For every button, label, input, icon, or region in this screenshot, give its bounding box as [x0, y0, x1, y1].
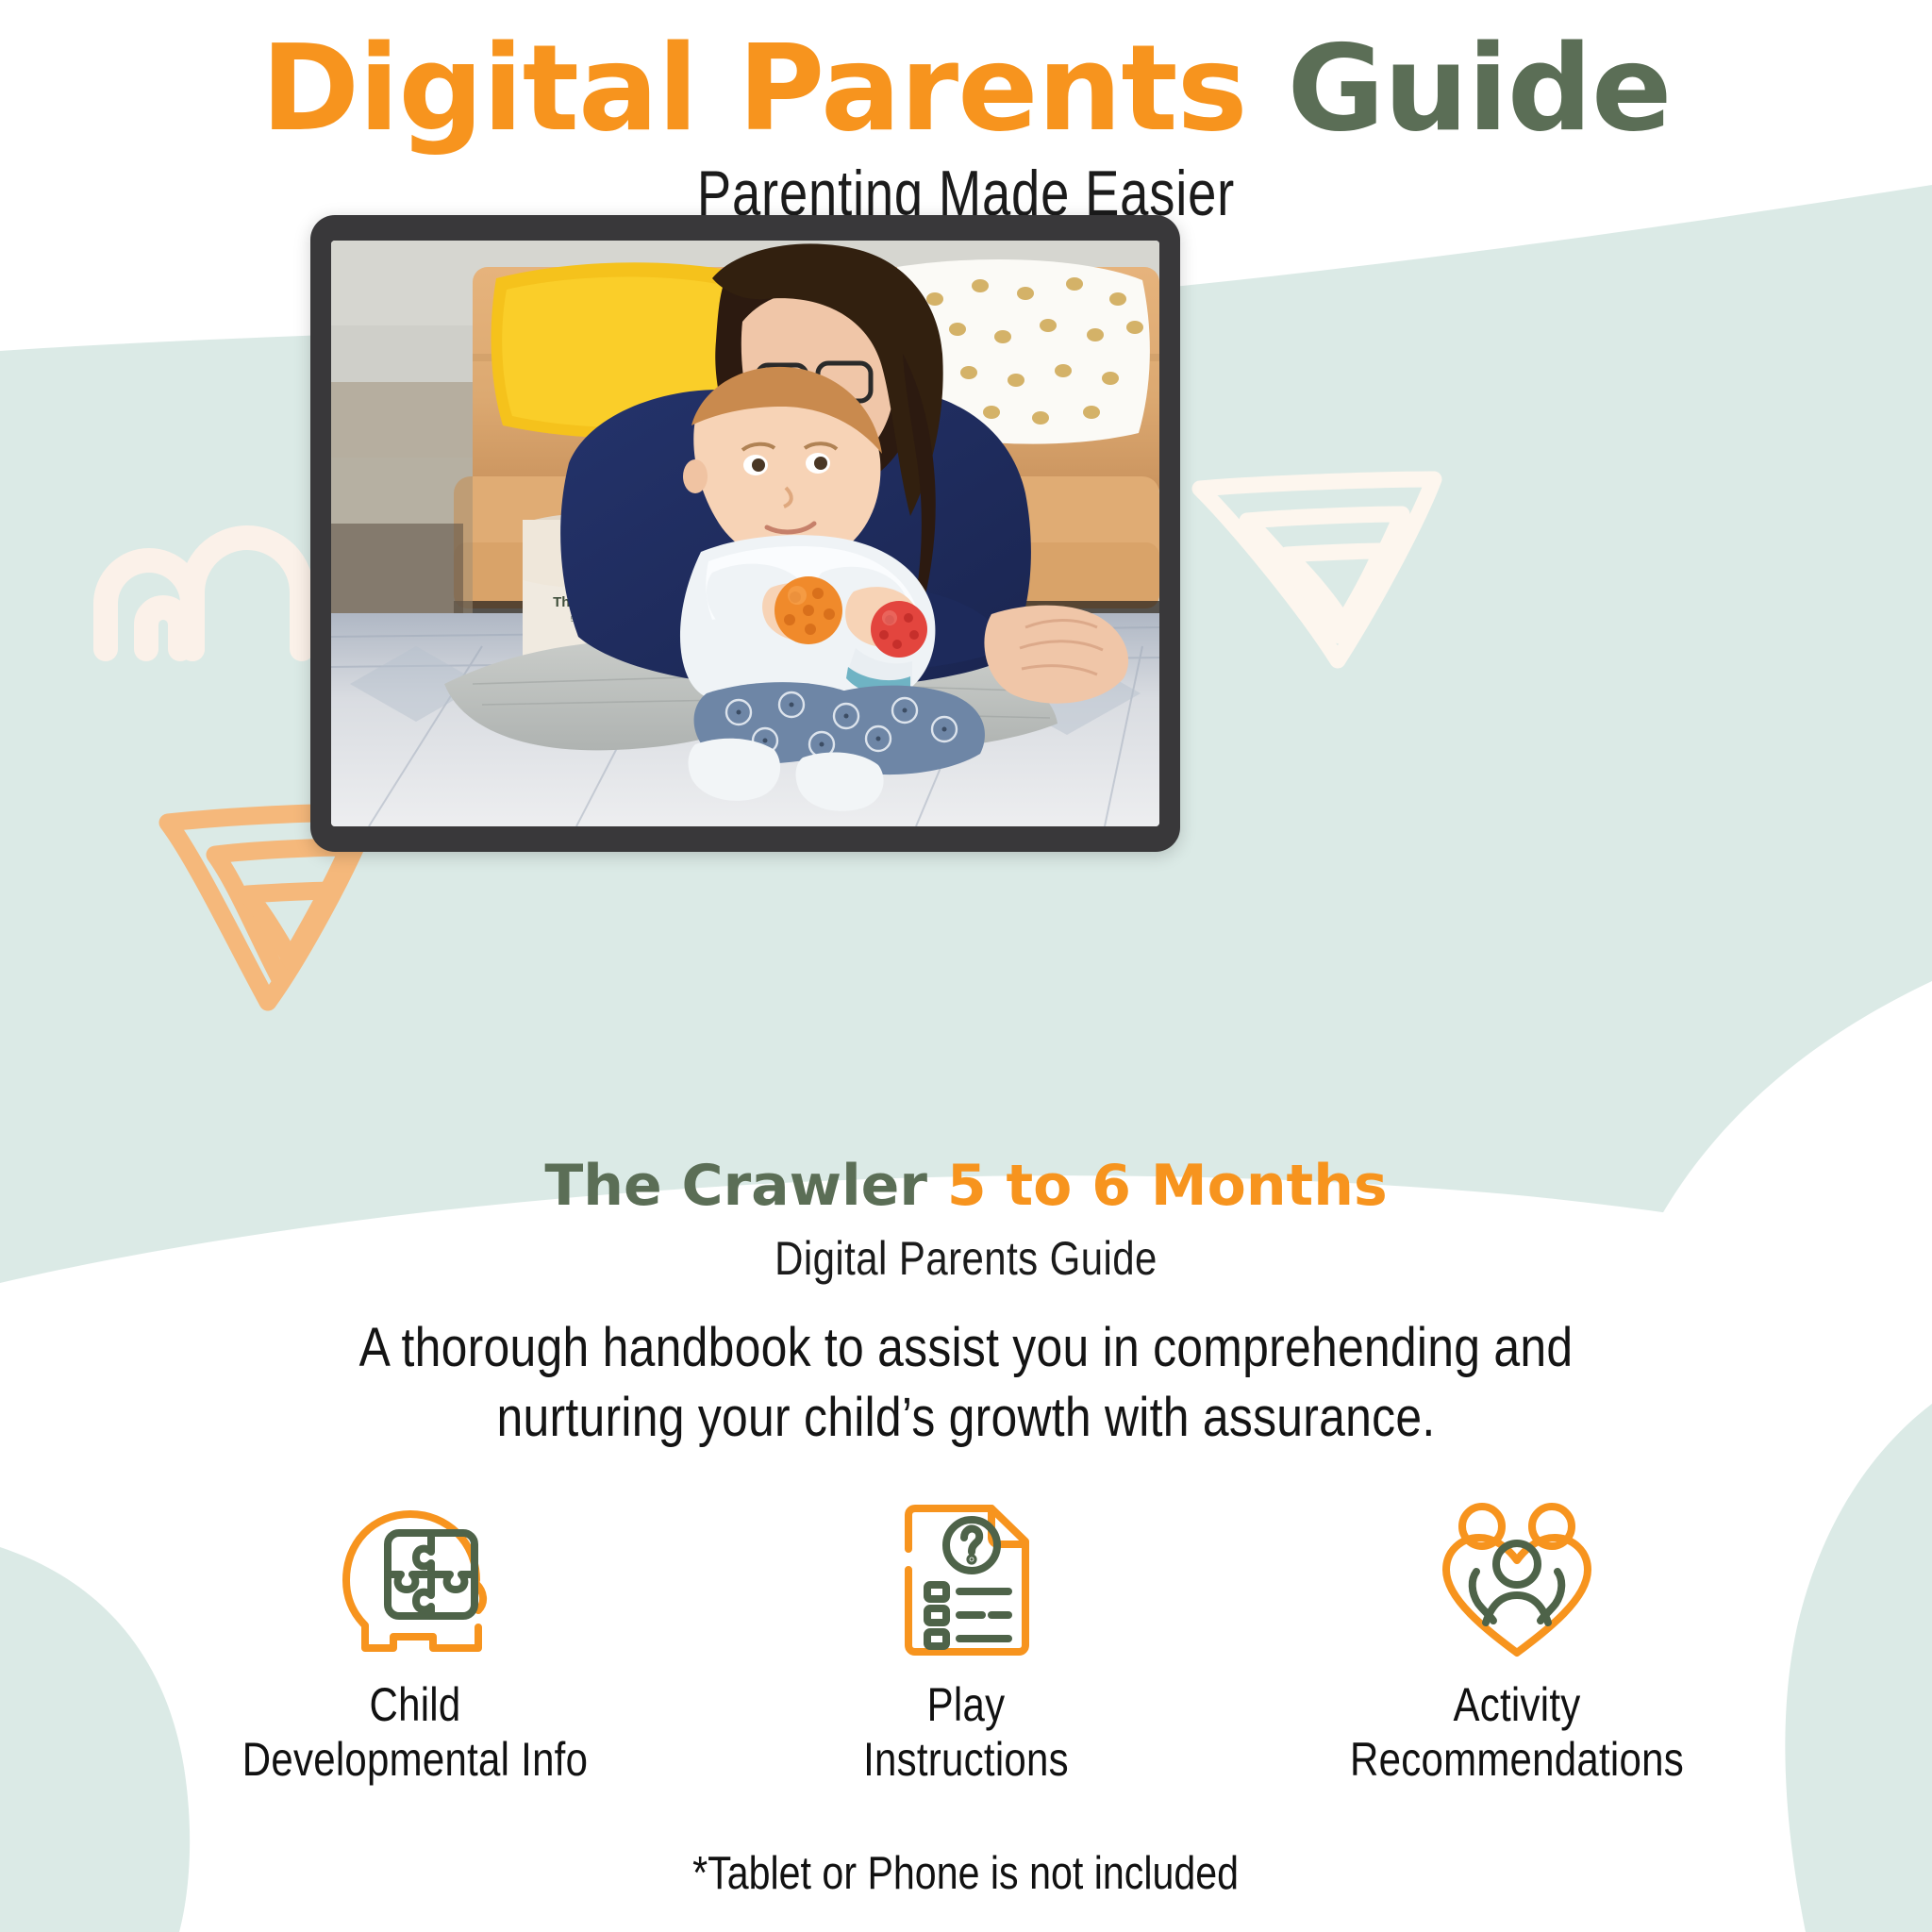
- poster-canvas: Digital Parents Guide Parenting Made Eas…: [0, 0, 1932, 1932]
- head-puzzle-icon: [170, 1489, 660, 1660]
- feature-list: Child Developmental Info: [170, 1489, 1762, 1787]
- description-line-2: nurturing your child’s growth with assur…: [290, 1383, 1642, 1453]
- feature-label: Play Instructions: [721, 1677, 1211, 1787]
- poster-header: Digital Parents Guide Parenting Made Eas…: [0, 26, 1932, 230]
- tablet-device: Bugify The Crawler 5 to 6 Months: [310, 215, 1180, 852]
- product-description: A thorough handbook to assist you in com…: [179, 1313, 1753, 1453]
- title-part-two: Guide: [1287, 19, 1671, 158]
- feature-activity-recommendations: Activity Recommendations: [1272, 1489, 1762, 1787]
- product-age-range: 5 to 6 Months: [947, 1153, 1388, 1219]
- footnote-disclaimer: *Tablet or Phone is not included: [0, 1847, 1932, 1900]
- feature-label-line-2: Recommendations: [1311, 1732, 1724, 1787]
- sensory-ball-orange: [774, 576, 842, 644]
- tablet-screen: Bugify The Crawler 5 to 6 Months: [331, 241, 1159, 826]
- family-heart-icon: [1272, 1489, 1762, 1660]
- description-line-1: A thorough handbook to assist you in com…: [290, 1313, 1642, 1383]
- feature-label-line-2: Developmental Info: [209, 1732, 622, 1787]
- product-subtitle: Digital Parents Guide: [155, 1231, 1777, 1286]
- feature-label-line-1: Activity: [1311, 1677, 1724, 1732]
- page-title: Digital Parents Guide: [0, 26, 1932, 151]
- feature-label: Activity Recommendations: [1272, 1677, 1762, 1787]
- feature-label-line-1: Child: [209, 1677, 622, 1732]
- feature-play-instructions: Play Instructions: [721, 1489, 1211, 1787]
- feature-label-line-1: Play: [760, 1677, 1173, 1732]
- feature-label: Child Developmental Info: [170, 1677, 660, 1787]
- title-part-one: Digital Parents: [261, 19, 1247, 158]
- feature-label-line-2: Instructions: [760, 1732, 1173, 1787]
- product-title: The Crawler 5 to 6 Months: [0, 1153, 1932, 1219]
- product-name: The Crawler: [544, 1153, 927, 1219]
- feature-child-developmental-info: Child Developmental Info: [170, 1489, 660, 1787]
- footnote-text: *Tablet or Phone is not included: [693, 1847, 1240, 1900]
- document-question-checklist-icon: [721, 1489, 1211, 1660]
